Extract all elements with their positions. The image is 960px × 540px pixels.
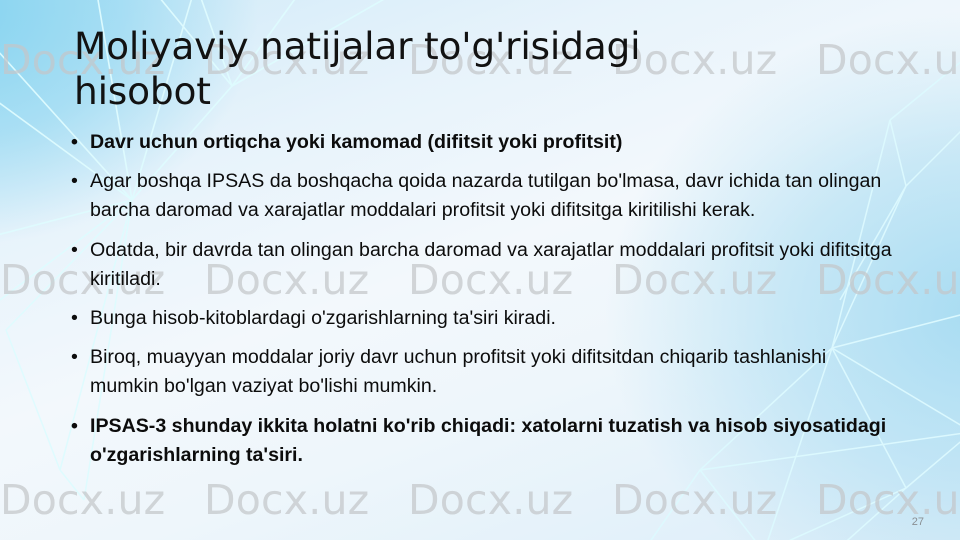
list-item-text: Bunga hisob-kitoblardagi o'zgarishlarnin… bbox=[90, 307, 556, 329]
watermark-text: Docx.uz bbox=[204, 476, 408, 524]
watermark-text: Docx.uz bbox=[0, 476, 204, 524]
list-item-text: Biroq, muayyan moddalar joriy davr uchun… bbox=[90, 346, 826, 397]
list-item: • Odatda, bir davrda tan olingan barcha … bbox=[62, 236, 898, 294]
list-item-text: Davr uchun ortiqcha yoki kamomad (difits… bbox=[90, 131, 622, 153]
slide-number: 27 bbox=[912, 516, 924, 528]
list-item: • Bunga hisob-kitoblardagi o'zgarishlarn… bbox=[62, 304, 898, 333]
bullet-marker-icon: • bbox=[71, 412, 78, 441]
list-item-text: Agar boshqa IPSAS da boshqacha qoida naz… bbox=[90, 170, 881, 221]
bullet-marker-icon: • bbox=[71, 128, 78, 157]
bullet-marker-icon: • bbox=[71, 304, 78, 333]
bullet-list: • Davr uchun ortiqcha yoki kamomad (difi… bbox=[62, 128, 898, 480]
list-item-text: Odatda, bir davrda tan olingan barcha da… bbox=[90, 239, 892, 290]
watermark-text: Docx.uz bbox=[816, 36, 960, 84]
list-item: • Davr uchun ortiqcha yoki kamomad (difi… bbox=[62, 128, 898, 157]
list-item: • Agar boshqa IPSAS da boshqacha qoida n… bbox=[62, 167, 898, 225]
list-item: • IPSAS-3 shunday ikkita holatni ko'rib … bbox=[62, 412, 898, 470]
bullet-marker-icon: • bbox=[71, 167, 78, 196]
list-item-text: IPSAS-3 shunday ikkita holatni ko'rib ch… bbox=[90, 415, 886, 466]
bullet-marker-icon: • bbox=[71, 236, 78, 265]
watermark-row-bottom: Docx.uzDocx.uzDocx.uzDocx.uzDocx.uz bbox=[0, 476, 960, 524]
watermark-text: Docx.uz bbox=[612, 476, 816, 524]
slide-canvas: Docx.uzDocx.uzDocx.uzDocx.uzDocx.uz Docx… bbox=[0, 0, 960, 540]
list-item: • Biroq, muayyan moddalar joriy davr uch… bbox=[62, 343, 898, 401]
watermark-text: Docx.uz bbox=[408, 476, 612, 524]
watermark-text: Docx.uz bbox=[816, 476, 960, 524]
bullet-marker-icon: • bbox=[71, 343, 78, 372]
slide-title: Moliyaviy natijalar to'g'risidagi hisobo… bbox=[74, 24, 774, 114]
